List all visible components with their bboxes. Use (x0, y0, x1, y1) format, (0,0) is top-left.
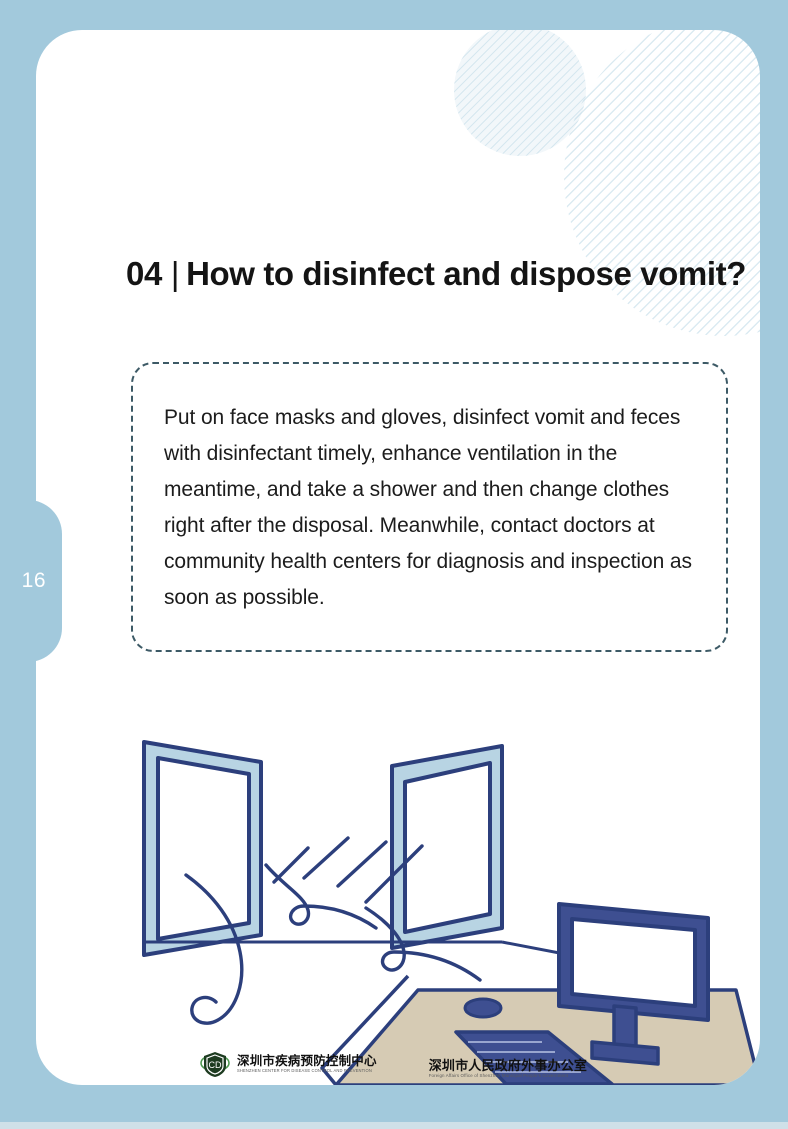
body-callout-box: Put on face masks and gloves, disinfect … (131, 362, 728, 652)
svg-text:CD: CD (209, 1060, 222, 1070)
page-number-tab: 16 (0, 500, 62, 662)
footer-logos: CD 深圳市疾病预防控制中心 SHENZHEN CENTER FOR DISEA… (200, 1049, 587, 1079)
page-title: 04|How to disinfect and dispose vomit? (126, 255, 746, 293)
left-open-window (144, 742, 261, 955)
logo-name-cn: 深圳市疾病预防控制中心 (237, 1054, 377, 1068)
logo-name-en: SHENZHEN CENTER FOR DISEASE CONTROL AND … (237, 1068, 377, 1074)
green-shield-icon: CD (200, 1049, 230, 1079)
mouse (465, 999, 501, 1017)
logo-foreign-affairs-office: 深圳市人民政府外事办公室 Foreign Affairs Office of S… (429, 1059, 587, 1079)
content-card: 04|How to disinfect and dispose vomit? P… (36, 30, 760, 1085)
right-open-window (392, 746, 502, 948)
page-number: 16 (22, 569, 46, 593)
logo-name-en: Foreign Affairs Office of Shenzhen Munic… (429, 1073, 587, 1079)
logo-shenzhen-cdc: CD 深圳市疾病预防控制中心 SHENZHEN CENTER FOR DISEA… (200, 1049, 377, 1079)
logo-name-cn: 深圳市人民政府外事办公室 (429, 1059, 587, 1073)
illustration-ventilation-scene (36, 690, 760, 1085)
section-number: 04 (126, 255, 162, 292)
page-root: 04|How to disinfect and dispose vomit? P… (0, 0, 788, 1129)
logo-text-block: 深圳市人民政府外事办公室 Foreign Affairs Office of S… (429, 1059, 587, 1079)
body-text: Put on face masks and gloves, disinfect … (164, 400, 709, 616)
title-separator: | (171, 255, 179, 293)
decorative-circle-small (454, 30, 586, 156)
title-text: How to disinfect and dispose vomit? (186, 255, 746, 292)
logo-text-block: 深圳市疾病预防控制中心 SHENZHEN CENTER FOR DISEASE … (237, 1054, 377, 1074)
page-bottom-strip (0, 1122, 788, 1129)
